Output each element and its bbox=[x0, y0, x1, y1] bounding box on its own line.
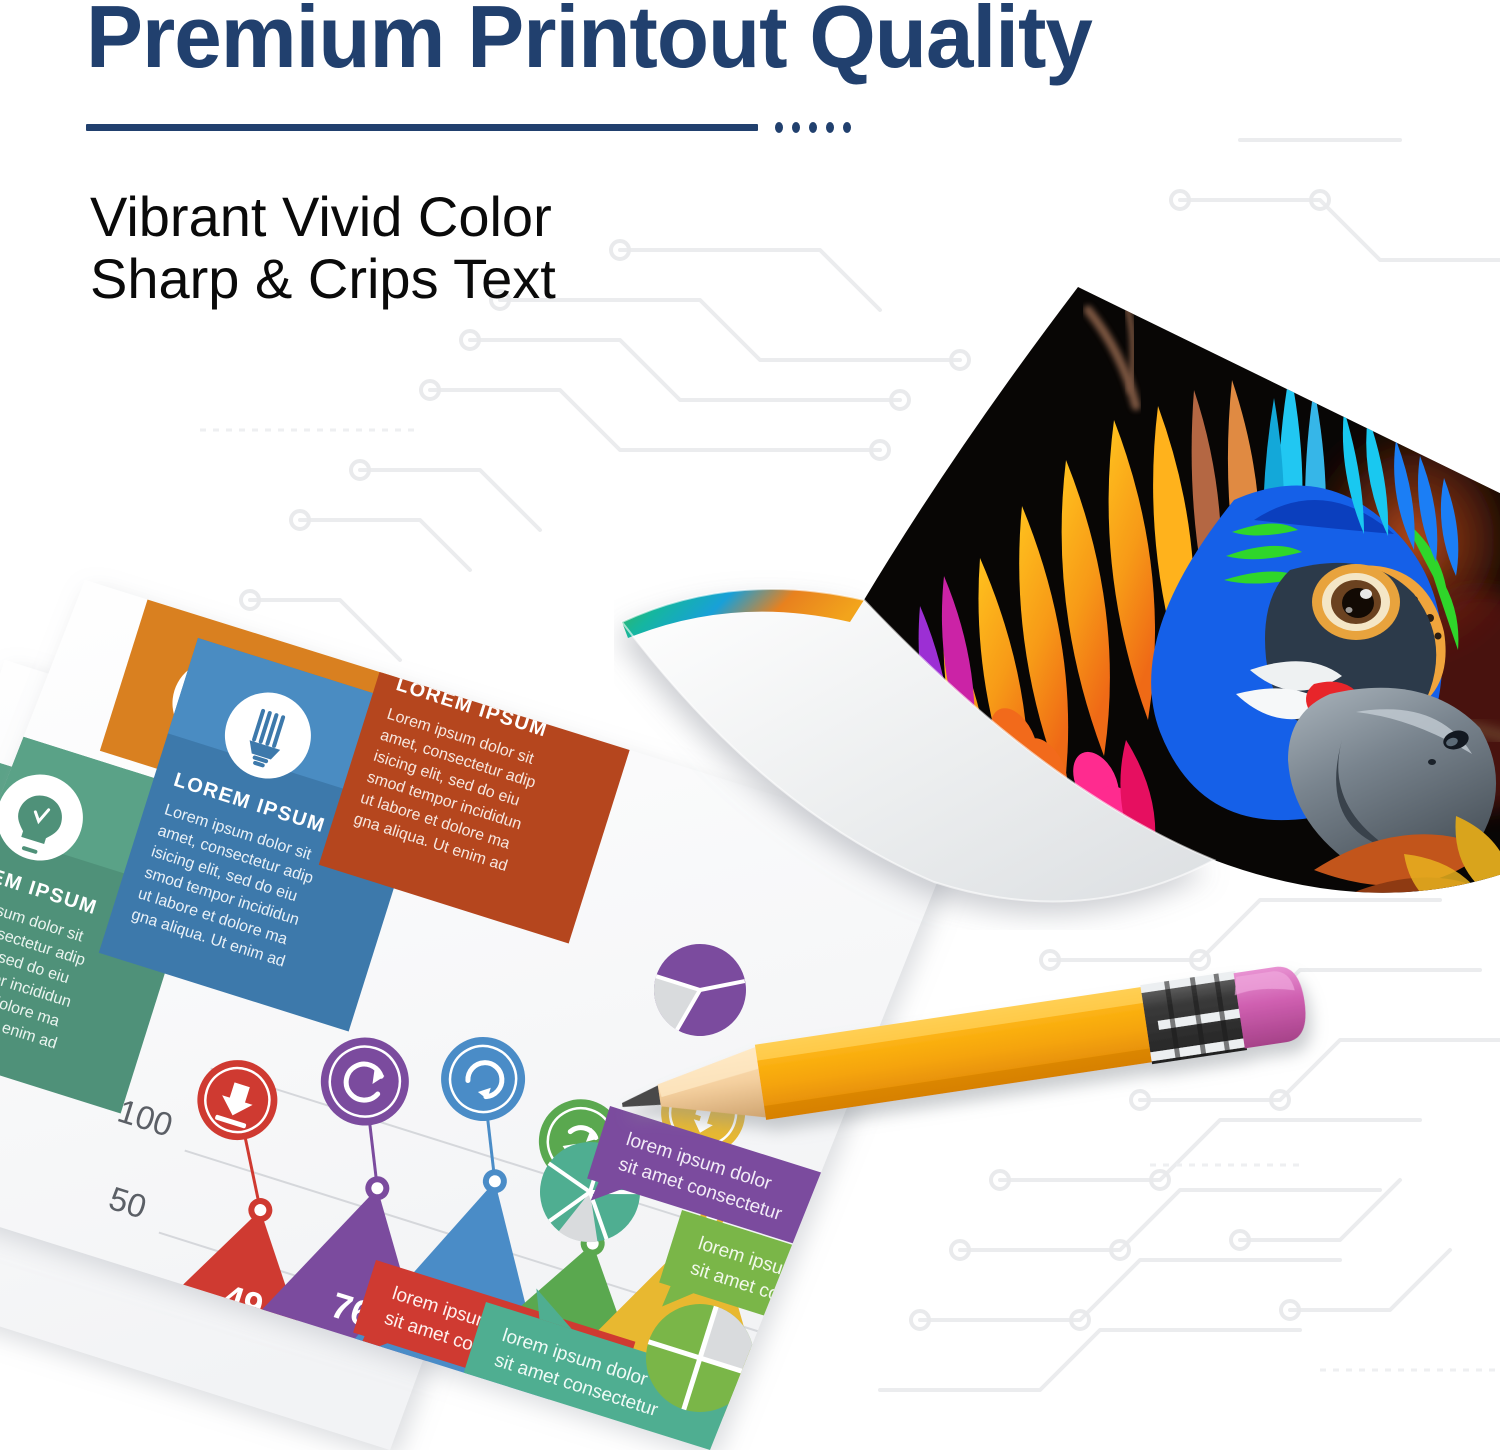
divider-dots bbox=[775, 122, 851, 133]
title-divider bbox=[86, 122, 851, 133]
divider-dot bbox=[843, 122, 851, 133]
callout-bubble-orange[interactable]: lorem ipsum dolor sit amet consectetur bbox=[485, 1426, 774, 1450]
subtitle-line-2: Sharp & Crips Text bbox=[90, 248, 556, 310]
parrot-photo-printout bbox=[614, 270, 1500, 930]
subtitle-block: Vibrant Vivid Color Sharp & Crips Text bbox=[90, 186, 556, 310]
divider-dot bbox=[809, 122, 817, 133]
subtitle-line-1: Vibrant Vivid Color bbox=[90, 186, 556, 248]
divider-dot bbox=[826, 122, 834, 133]
divider-dot bbox=[792, 122, 800, 133]
pencil bbox=[600, 955, 1340, 1145]
bubble-line-1: lorem ipsum dolor bbox=[822, 1319, 973, 1385]
divider-dot bbox=[775, 122, 783, 133]
parrot-eye bbox=[1312, 564, 1400, 640]
faucet-icon bbox=[461, 617, 514, 658]
bubble-line-2: sit amet consectetur bbox=[814, 1344, 983, 1415]
callout-bubble-blue[interactable]: lorem ipsum dolor sit amet consectetur bbox=[779, 1271, 1075, 1450]
card-icon-badge bbox=[438, 582, 546, 690]
page-title: Premium Printout Quality bbox=[86, 0, 1092, 88]
divider-bar bbox=[86, 124, 758, 131]
